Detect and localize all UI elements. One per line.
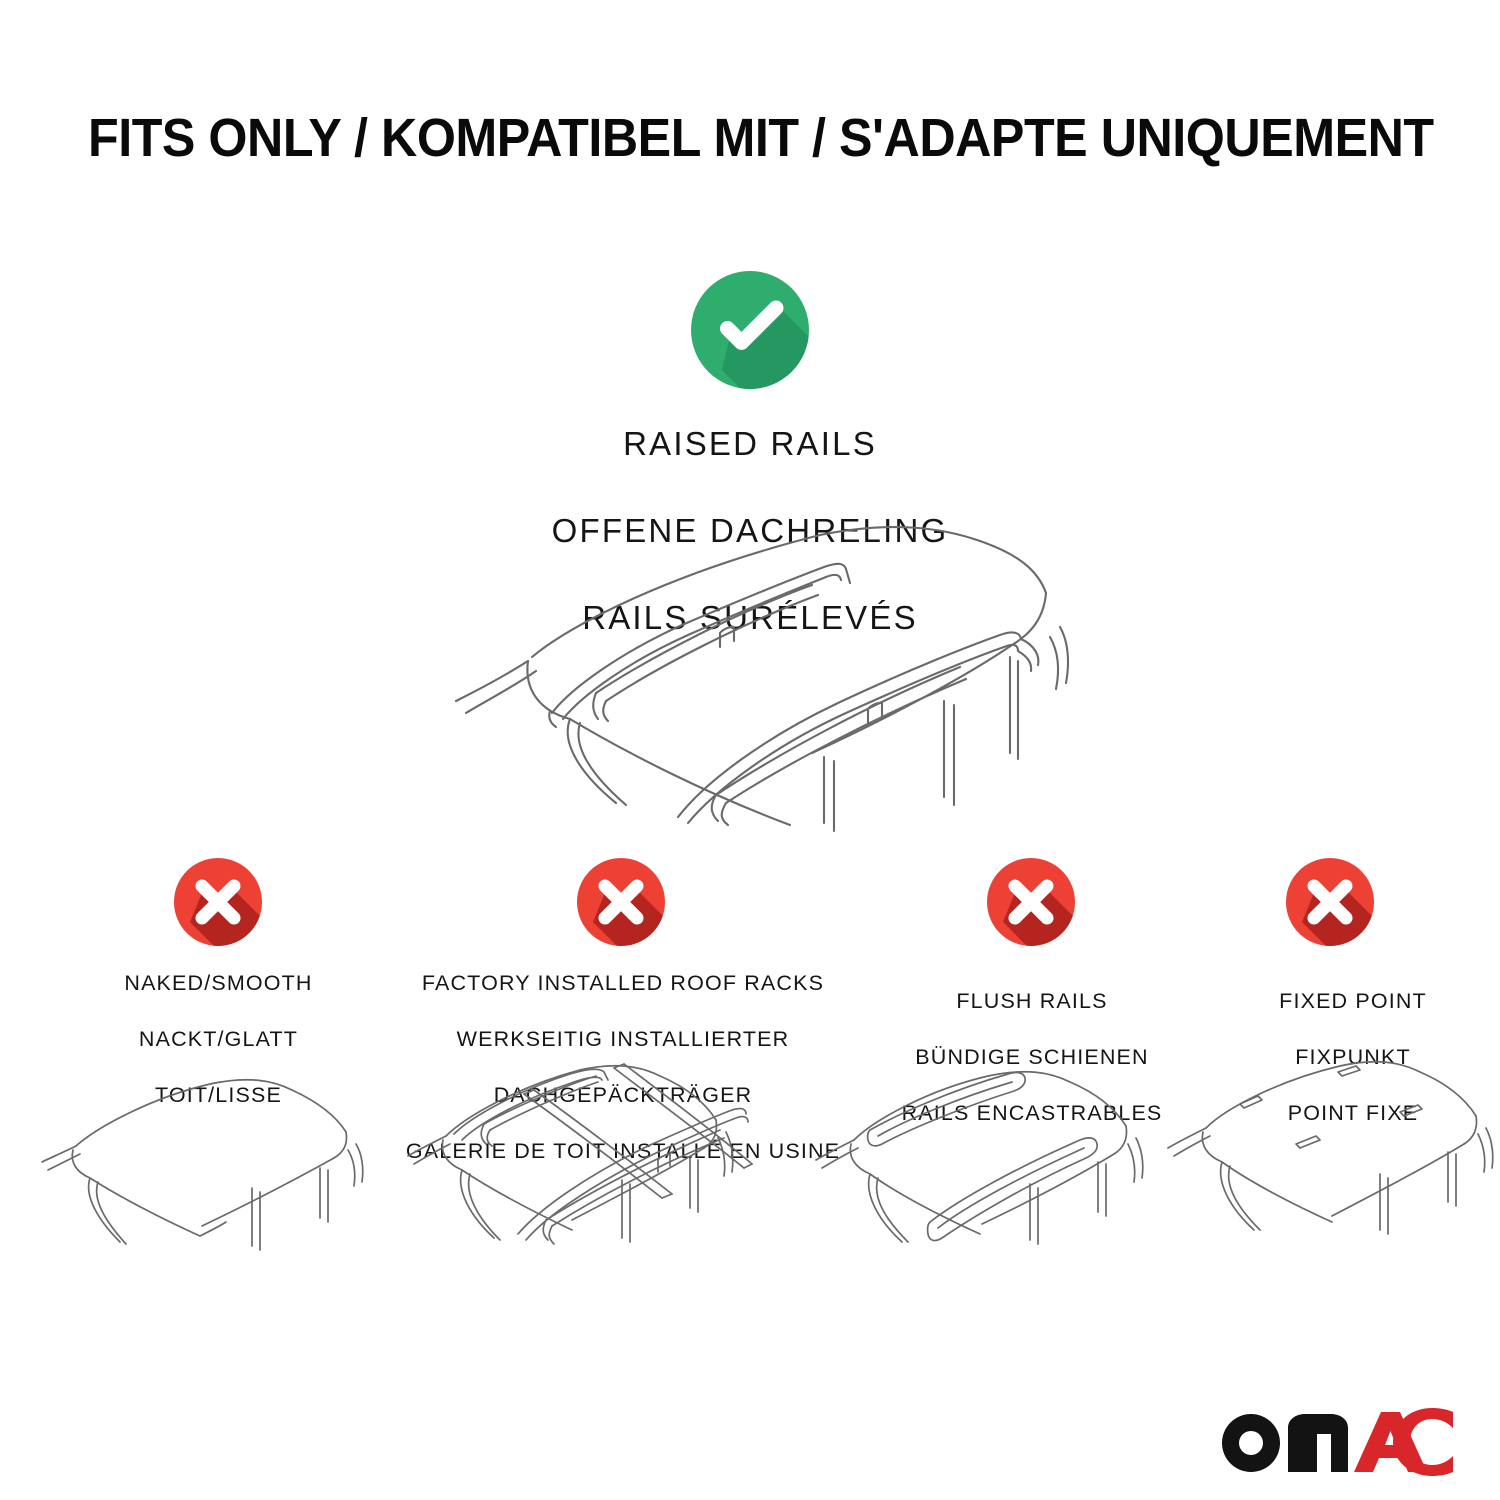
- page-title: FITS ONLY / KOMPATIBEL MIT / S'ADAPTE UN…: [88, 108, 1325, 168]
- car-roof-fixed-point-illustration: [1162, 1058, 1500, 1288]
- incompatible-3-label-en: FLUSH RAILS: [862, 988, 1202, 1016]
- incompatible-1-label-en: NAKED/SMOOTH: [46, 970, 391, 998]
- car-roof-naked-smooth-illustration: [40, 1058, 400, 1288]
- car-roof-factory-roof-racks-illustration: [400, 1058, 780, 1288]
- incompatible-2-label-en: FACTORY INSTALLED ROOF RACKS: [398, 970, 848, 998]
- compatible-label-en: RAISED RAILS: [430, 422, 1070, 466]
- incompatible-2-label-de-1: WERKSEITIG INSTALLIERTER: [398, 1026, 848, 1054]
- cross-mark-icon-1: [170, 854, 266, 950]
- incompatible-1-label-de: NACKT/GLATT: [46, 1026, 391, 1054]
- car-roof-flush-rails-illustration: [812, 1058, 1182, 1288]
- check-mark-icon: [686, 266, 814, 394]
- fitment-infographic: FITS ONLY / KOMPATIBEL MIT / S'ADAPTE UN…: [0, 0, 1500, 1500]
- cross-mark-icon-4: [1282, 854, 1378, 950]
- logo-letter-o: [1222, 1414, 1280, 1472]
- cross-mark-icon-3: [983, 854, 1079, 950]
- logo-letter-m: [1288, 1414, 1348, 1472]
- car-roof-raised-rails-illustration: [420, 505, 1100, 835]
- cross-mark-icon-2: [573, 854, 669, 950]
- omac-logo: [1218, 1404, 1453, 1476]
- incompatible-4-label-en: FIXED POINT: [1208, 988, 1498, 1016]
